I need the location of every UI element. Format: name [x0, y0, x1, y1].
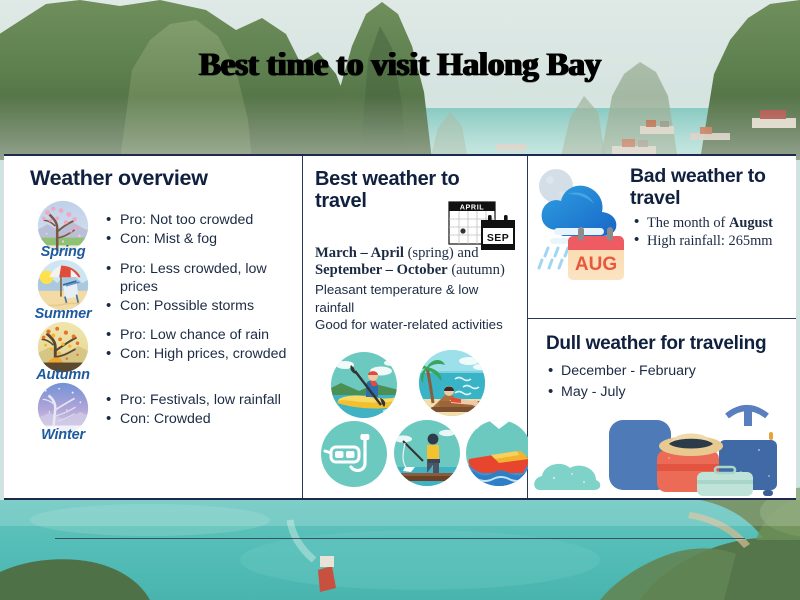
- list-item: Con: High prices, crowded: [106, 345, 290, 363]
- calendar-april-sep-icon: APRIL SEP: [447, 196, 517, 258]
- list-item: Pro: Less crowded, low prices: [106, 260, 290, 296]
- list-item: Pro: Festivals, low rainfall: [106, 391, 290, 409]
- rain-cloud-aug-calendar-icon: AUG: [534, 164, 630, 282]
- list-item: Con: Mist & fog: [106, 230, 290, 248]
- activity-icon-grid: [313, 349, 521, 494]
- best-months-spring: March – April: [315, 245, 404, 261]
- list-item: High rainfall: 265mm: [634, 232, 790, 251]
- best-months-autumn-note: (autumn): [448, 262, 505, 278]
- list-item: Con: Crowded: [106, 410, 290, 428]
- panel-best-weather: Best weather to travel APRIL SEP: [302, 156, 528, 498]
- best-weather-detail-2: Good for water-related activities: [315, 316, 519, 334]
- bottom-horizontal-rule: [55, 538, 745, 539]
- title-bar: Best time to visit Halong Bay: [0, 47, 800, 102]
- snorkel-mask-icon: [319, 419, 389, 489]
- bullet-text-plain: The month of: [647, 215, 729, 231]
- best-weather-heading: Best weather to travel: [315, 168, 460, 213]
- bullet-text-bold: August: [729, 215, 773, 231]
- season-bullets-autumn: Pro: Low chance of rain Con: High prices…: [96, 320, 290, 364]
- dull-weather-heading: Dull weather for traveling: [546, 333, 788, 355]
- list-item: The month of August: [634, 214, 790, 233]
- luggage-suitcases-icon: [609, 380, 794, 498]
- fishing-icon: [389, 415, 465, 491]
- speedboat-icon: [461, 415, 537, 491]
- panel-weather-overview: Weather overview: [4, 156, 302, 498]
- list-item: December - February: [546, 361, 788, 382]
- bad-weather-heading-wrap: Bad weather to travel: [630, 166, 790, 210]
- best-months-line-2: September – October (autumn): [315, 262, 519, 279]
- panel-dull-weather: Dull weather for traveling December - Fe…: [528, 319, 796, 498]
- page-title: Best time to visit Halong Bay: [199, 47, 601, 83]
- bad-weather-heading: Bad weather to travel: [630, 166, 790, 210]
- bad-weather-bullets: The month of August High rainfall: 265mm: [634, 214, 790, 251]
- svg-text:AUG: AUG: [575, 254, 617, 275]
- kayaking-icon: [325, 351, 403, 423]
- season-bullets-summer: Pro: Less crowded, low prices Con: Possi…: [96, 256, 290, 317]
- season-bullets-spring: Pro: Not too crowded Con: Mist & fog: [96, 199, 290, 249]
- panel-right-column: AUG Bad weather to travel The month of A…: [528, 156, 796, 498]
- season-bullets-winter: Pro: Festivals, low rainfall Con: Crowde…: [96, 381, 290, 429]
- best-weather-text-block: March – April (spring) and September – O…: [315, 245, 519, 334]
- best-weather-detail-1: Pleasant temperature & low rainfall: [315, 281, 519, 317]
- best-months-autumn: September – October: [315, 262, 448, 278]
- svg-text:APRIL: APRIL: [460, 202, 485, 211]
- weather-overview-heading: Weather overview: [30, 166, 290, 191]
- panel-bad-weather: AUG Bad weather to travel The month of A…: [528, 156, 796, 319]
- list-item: Con: Possible storms: [106, 297, 290, 315]
- svg-text:SEP: SEP: [487, 232, 509, 244]
- list-item: Pro: Not too crowded: [106, 211, 290, 229]
- beach-lounger-icon: [411, 349, 493, 423]
- list-item: Pro: Low chance of rain: [106, 326, 290, 344]
- infographic-card-grid: Weather overview: [4, 154, 796, 500]
